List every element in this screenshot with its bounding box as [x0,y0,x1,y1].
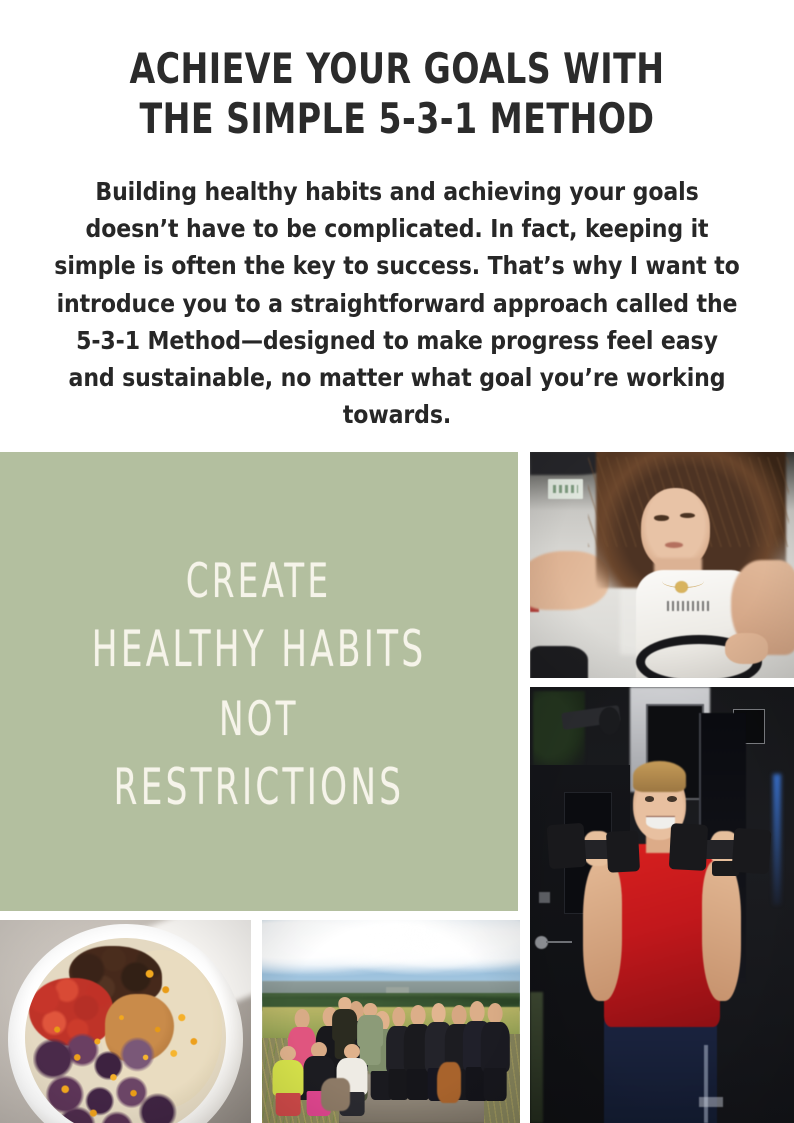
image-collage: Create Healthy Habits Not Restrictions [0,452,794,1123]
dog-icon [321,1078,349,1110]
quote-line-1: Create [186,557,331,604]
page-title-line-2: The simple 5-3-1 method [48,94,747,144]
quote-panel: Create Healthy Habits Not Restrictions [0,452,518,911]
photo-porridge-bowl [0,920,251,1123]
quote-line-3: Not [219,695,299,742]
exit-sign-icon [548,479,582,499]
quote-line-2: Healthy Habits [92,625,427,675]
quote-line-4: Restrictions [114,763,405,813]
poster-page: Achieve your goals with The simple 5-3-1… [0,0,794,1123]
page-title-line-1: Achieve your goals with [48,44,747,94]
photo-group-hike [262,920,520,1123]
intro-paragraph: Building healthy habits and achieving yo… [52,173,742,433]
photo-man-with-dumbbells [530,687,794,1123]
page-title: Achieve your goals with The simple 5-3-1… [0,44,794,143]
photo-woman-on-gym-bike [530,452,794,678]
dog-icon [437,1062,460,1103]
